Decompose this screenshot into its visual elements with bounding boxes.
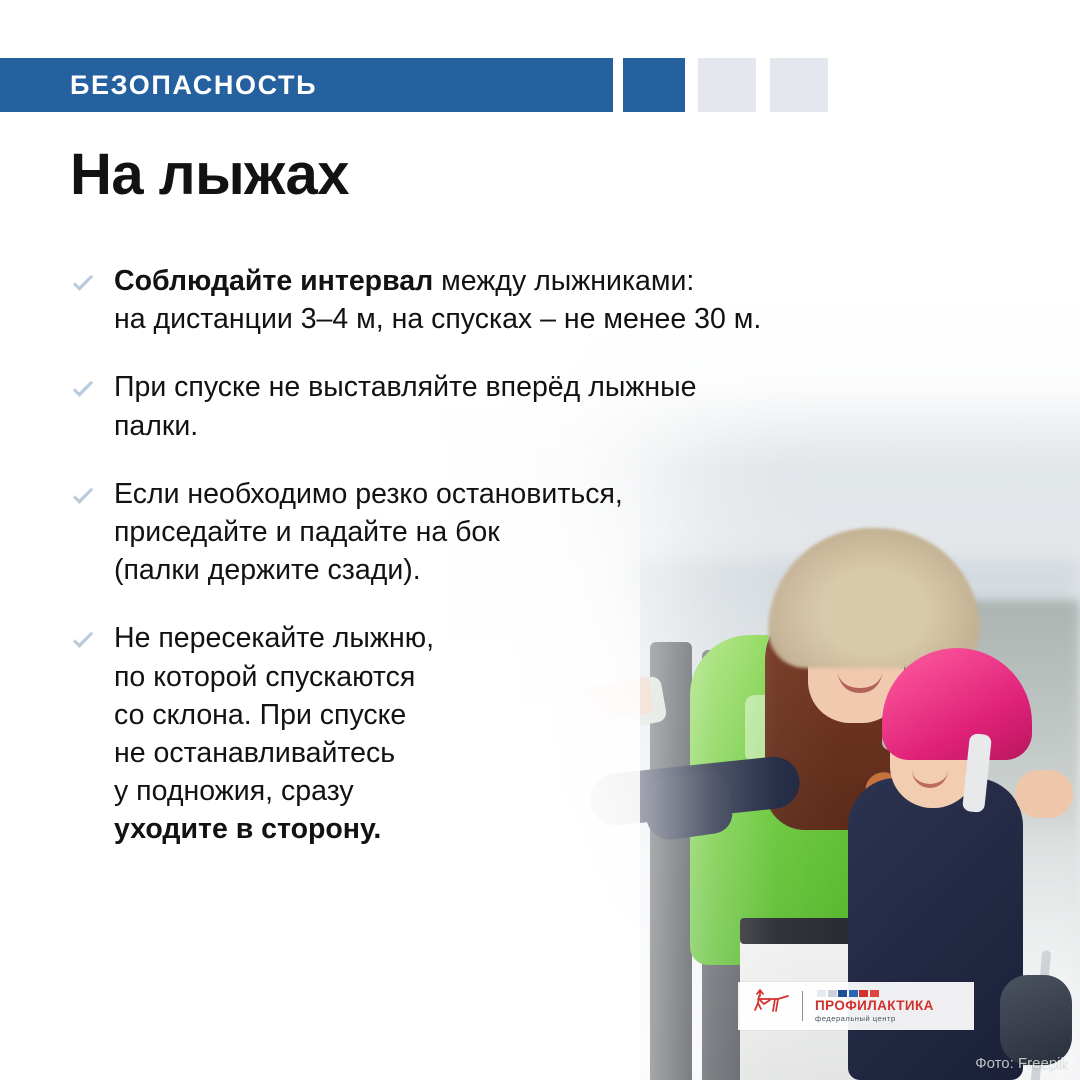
deer-icon (748, 987, 790, 1026)
banner-square-grey-2 (770, 58, 828, 112)
safety-rules-list: Соблюдайте интервал между лыжниками: на … (70, 262, 1030, 878)
organization-logo-badge: ПРОФИЛАКТИКА федеральный центр (738, 982, 974, 1030)
logo-text-block: ПРОФИЛАКТИКА федеральный центр (815, 990, 934, 1023)
check-icon (70, 271, 96, 297)
list-item-lead-bold: Соблюдайте интервал (114, 265, 433, 297)
photo-credit: Фото: Freepik (975, 1055, 1068, 1072)
check-icon (70, 628, 96, 654)
banner-square-blue (623, 58, 685, 112)
logo-subtitle: федеральный центр (815, 1015, 896, 1023)
list-item-text: Если необходимо резко остановиться, прис… (114, 475, 623, 590)
banner-square-grey-1 (698, 58, 756, 112)
banner-label: БЕЗОПАСНОСТЬ (0, 70, 317, 101)
infographic-canvas: БЕЗОПАСНОСТЬ На лыжах Соблюдайте интерва… (0, 0, 1080, 1080)
list-item-body: Если необходимо резко остановиться, прис… (114, 478, 623, 586)
list-item-text: При спуске не выставляйте вперёд лыжные … (114, 368, 696, 444)
header-banner: БЕЗОПАСНОСТЬ (0, 58, 1080, 112)
page-title: На лыжах (70, 146, 349, 204)
list-item: При спуске не выставляйте вперёд лыжные … (70, 368, 1030, 444)
list-item-body: При спуске не выставляйте вперёд лыжные … (114, 371, 696, 441)
logo-name: ПРОФИЛАКТИКА (815, 999, 934, 1013)
list-item-text: Соблюдайте интервал между лыжниками: на … (114, 262, 761, 338)
list-item-text: Не пересекайте лыжню, по которой спускаю… (114, 619, 434, 848)
banner-main-block: БЕЗОПАСНОСТЬ (0, 58, 613, 112)
logo-flag-squares (817, 990, 879, 997)
list-item: Не пересекайте лыжню, по которой спускаю… (70, 619, 1030, 848)
list-item: Если необходимо резко остановиться, прис… (70, 475, 1030, 590)
check-icon (70, 377, 96, 403)
list-item: Соблюдайте интервал между лыжниками: на … (70, 262, 1030, 338)
list-item-trail-bold: уходите в сторону. (114, 813, 381, 845)
check-icon (70, 484, 96, 510)
list-item-body: Не пересекайте лыжню, по которой спускаю… (114, 622, 434, 807)
logo-divider (802, 991, 803, 1021)
